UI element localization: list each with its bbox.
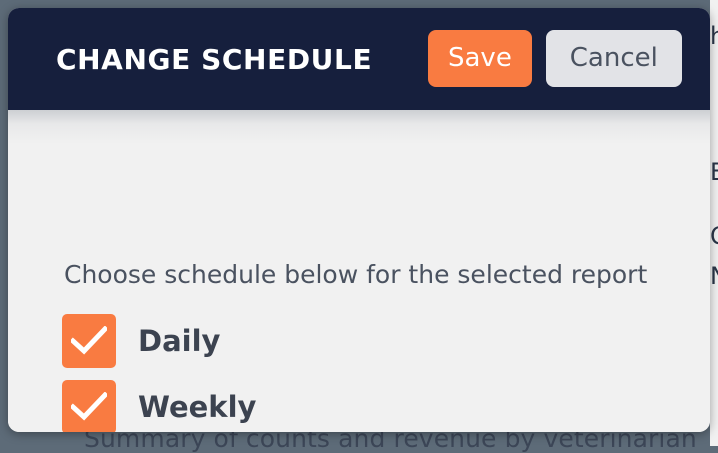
dialog-title: CHANGE SCHEDULE <box>56 43 372 76</box>
background-glyph-1: h <box>710 22 718 50</box>
dialog-body: Choose schedule below for the selected r… <box>8 110 710 432</box>
background-page-right-strip: h E O N <box>710 0 718 446</box>
checkmark-icon <box>71 326 107 356</box>
background-glyph-3: O <box>710 222 718 250</box>
schedule-option-weekly[interactable]: Weekly <box>62 374 271 432</box>
schedule-options-list: Daily Weekly Monthly <box>62 308 271 432</box>
checkbox-daily[interactable] <box>62 314 116 368</box>
checkbox-weekly[interactable] <box>62 380 116 432</box>
dialog-actions: Save Cancel <box>428 30 682 87</box>
background-glyph-4: N <box>710 262 718 290</box>
cancel-button[interactable]: Cancel <box>546 30 682 87</box>
schedule-option-label-weekly[interactable]: Weekly <box>138 390 256 424</box>
schedule-option-daily[interactable]: Daily <box>62 308 271 374</box>
dialog-header: CHANGE SCHEDULE Save Cancel <box>8 8 710 110</box>
instruction-text: Choose schedule below for the selected r… <box>64 260 647 289</box>
change-schedule-dialog: CHANGE SCHEDULE Save Cancel Choose sched… <box>8 8 710 432</box>
background-glyph-2: E <box>710 158 718 186</box>
save-button[interactable]: Save <box>428 30 532 87</box>
schedule-option-label-daily[interactable]: Daily <box>138 324 220 358</box>
checkmark-icon <box>71 392 107 422</box>
